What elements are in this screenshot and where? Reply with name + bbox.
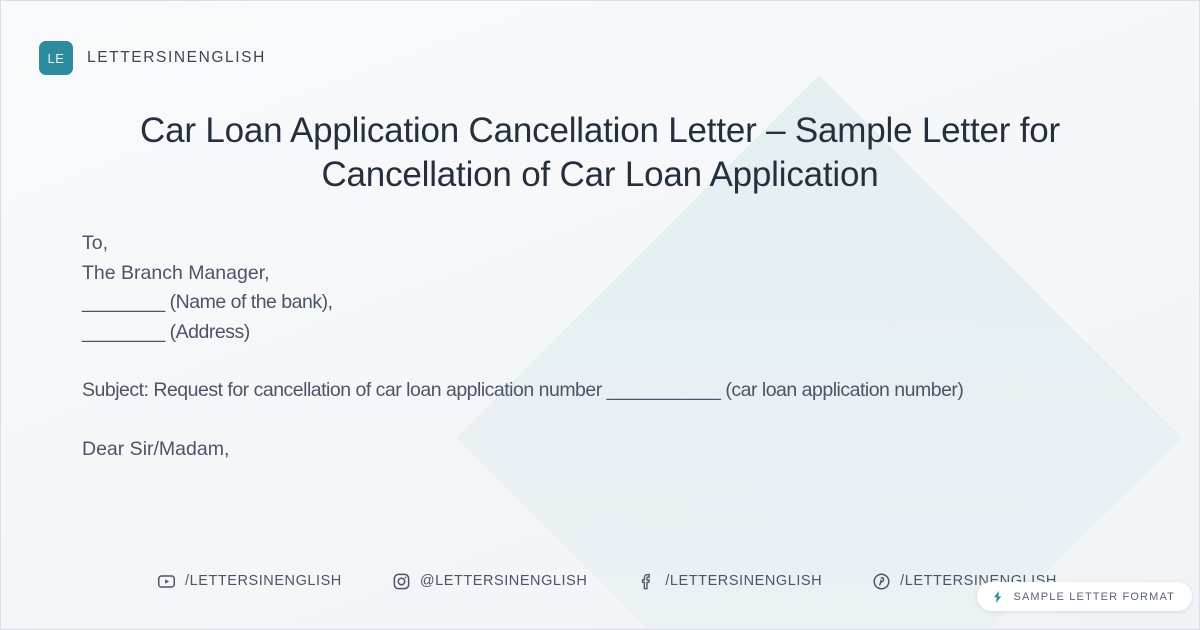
brand-mark-icon: LE xyxy=(39,41,73,75)
letter-line-address: ________ (Address) xyxy=(82,318,987,348)
pinterest-icon xyxy=(872,572,891,591)
lightning-bolt-icon xyxy=(991,590,1005,604)
social-label-facebook: /LETTERSINENGLISH xyxy=(665,573,822,589)
sample-letter-format-badge[interactable]: SAMPLE LETTER FORMAT xyxy=(977,582,1192,611)
letter-body: To, The Branch Manager, ________ (Name o… xyxy=(82,229,987,465)
letter-spacer-1 xyxy=(82,347,987,376)
page-title: Car Loan Application Cancellation Letter… xyxy=(81,109,1119,197)
poster-canvas: LE LETTERSINENGLISH Car Loan Application… xyxy=(0,0,1200,630)
letter-line-salutation: Dear Sir/Madam, xyxy=(82,435,987,465)
youtube-icon xyxy=(157,572,176,591)
social-link-facebook[interactable]: /LETTERSINENGLISH xyxy=(637,572,822,591)
social-label-youtube: /LETTERSINENGLISH xyxy=(185,573,342,589)
letter-line-to: To, xyxy=(82,229,987,259)
social-link-youtube[interactable]: /LETTERSINENGLISH xyxy=(157,572,342,591)
brand-name-label: LETTERSINENGLISH xyxy=(87,49,266,67)
social-link-instagram[interactable]: @LETTERSINENGLISH xyxy=(392,572,588,591)
social-label-instagram: @LETTERSINENGLISH xyxy=(420,573,588,589)
facebook-icon xyxy=(637,572,656,591)
letter-spacer-2 xyxy=(82,406,987,435)
badge-label: SAMPLE LETTER FORMAT xyxy=(1013,591,1175,603)
letter-line-branch-manager: The Branch Manager, xyxy=(82,259,987,289)
brand-logo: LE LETTERSINENGLISH xyxy=(39,41,266,75)
letter-line-bank-name: ________ (Name of the bank), xyxy=(82,288,987,318)
instagram-icon xyxy=(392,572,411,591)
letter-line-subject: Subject: Request for cancellation of car… xyxy=(82,376,987,406)
